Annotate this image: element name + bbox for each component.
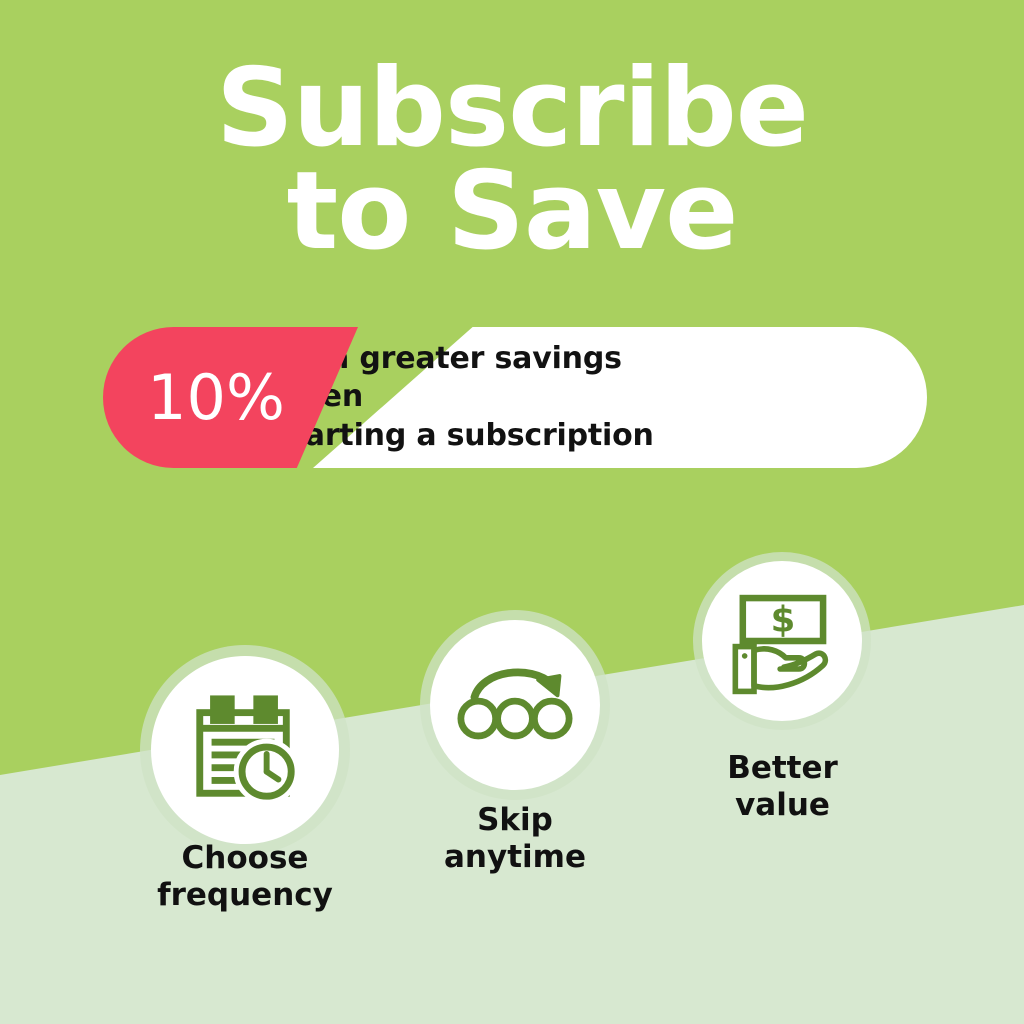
hand-holding-money-icon: $ [726,585,838,697]
discount-badge-value: 10% [103,327,329,468]
skip-arrow-circles-icon [457,647,573,763]
poster-canvas: Subscribe to Save Earn greater savings w… [0,0,1024,1024]
feature-icon-disc [151,656,339,844]
offer-banner: Earn greater savings when starting a sub… [103,327,927,468]
calendar-clock-icon [186,691,304,809]
svg-text:$: $ [771,600,796,641]
page-title: Subscribe to Save [0,58,1024,263]
feature-label-choose-frequency: Choose frequency [110,840,380,914]
feature-label-skip-anytime: Skip anytime [390,802,640,876]
feature-icon-disc: $ [702,561,862,721]
offer-message-line-2: starting a subscription [273,417,703,455]
feature-icon-disc [430,620,600,790]
feature-label-better-value: Better value [665,750,900,824]
headline-line-2: to Save [0,161,1024,264]
headline-line-1: Subscribe [0,58,1024,161]
